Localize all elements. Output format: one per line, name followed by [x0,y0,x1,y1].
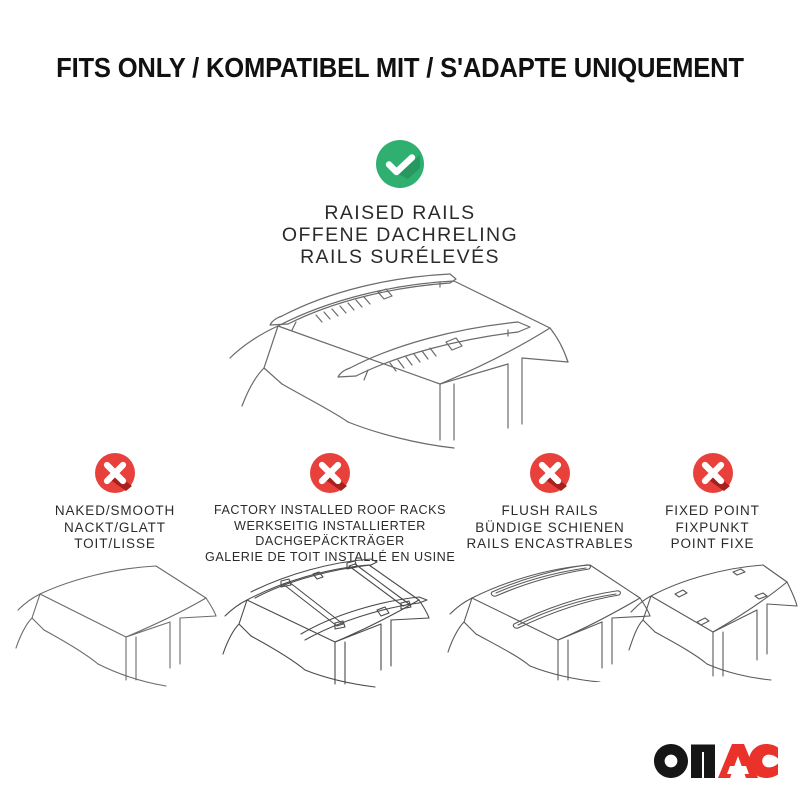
label-en: FACTORY INSTALLED ROOF RACKS [205,503,455,519]
label-fr: POINT FIXE [625,536,800,553]
car-roof-with-factory-crossbars-illustration [205,548,455,688]
page-title: FITS ONLY / KOMPATIBEL MIT / S'ADAPTE UN… [28,52,772,84]
car-roof-with-fixed-points-illustration [625,552,800,682]
x-circle-icon [529,452,571,494]
x-circle-icon [309,452,351,494]
label-en: NAKED/SMOOTH [10,503,220,520]
omac-logo [654,744,778,778]
compatible-label-fr: RAILS SURÉLEVÉS [0,246,800,268]
car-roof-with-raised-rails-illustration [178,272,642,452]
compatible-label-en: RAISED RAILS [0,202,800,224]
x-circle-icon [94,452,136,494]
label-fr: TOIT/LISSE [10,536,220,553]
compatible-label-de: OFFENE DACHRELING [0,224,800,246]
compatible-labels: RAISED RAILS OFFENE DACHRELING RAILS SUR… [0,202,800,268]
incompatible-item-factory-roof-racks: FACTORY INSTALLED ROOF RACKS WERKSEITIG … [205,452,455,565]
incompatible-labels: NAKED/SMOOTH NACKT/GLATT TOIT/LISSE [10,503,220,553]
omac-wordmark-icon [654,744,778,778]
incompatible-section: NAKED/SMOOTH NACKT/GLATT TOIT/LISSE [0,452,800,792]
label-de: FIXPUNKT [625,520,800,537]
header: FITS ONLY / KOMPATIBEL MIT / S'ADAPTE UN… [0,52,800,84]
label-de: NACKT/GLATT [10,520,220,537]
compatible-section: RAISED RAILS OFFENE DACHRELING RAILS SUR… [0,138,800,268]
incompatible-item-fixed-point: FIXED POINT FIXPUNKT POINT FIXE [625,452,800,553]
incompatible-labels: FIXED POINT FIXPUNKT POINT FIXE [625,503,800,553]
x-circle-icon [692,452,734,494]
label-de-1: WERKSEITIG INSTALLIERTER [205,519,455,535]
car-roof-naked-smooth-illustration [10,560,220,690]
incompatible-item-naked-smooth: NAKED/SMOOTH NACKT/GLATT TOIT/LISSE [10,452,220,553]
label-en: FIXED POINT [625,503,800,520]
check-circle-icon [374,138,426,190]
